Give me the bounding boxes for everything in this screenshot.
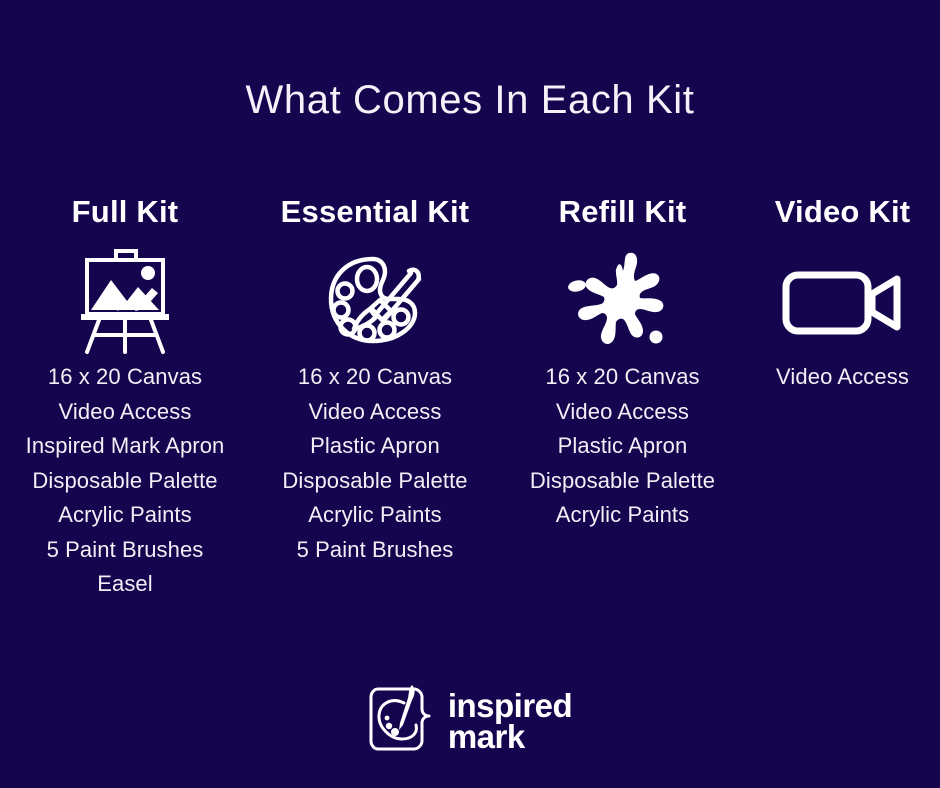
easel-painting-icon bbox=[75, 242, 175, 360]
paint-splat-icon bbox=[563, 242, 683, 360]
brand-wordmark: inspired mark bbox=[448, 691, 572, 752]
brand-line-1: inspired bbox=[448, 691, 572, 722]
kit-heading: Refill Kit bbox=[559, 190, 687, 232]
paint-palette-brush-icon bbox=[323, 242, 427, 360]
kit-heading: Essential Kit bbox=[281, 190, 470, 232]
list-item: Disposable Palette bbox=[26, 464, 225, 499]
kit-column-video: Video Kit Video Access bbox=[745, 190, 940, 395]
list-item: Easel bbox=[26, 567, 225, 602]
list-item: 16 x 20 Canvas bbox=[26, 360, 225, 395]
brand-logo: inspired mark bbox=[0, 683, 940, 760]
kit-item-list: 16 x 20 Canvas Video Access Inspired Mar… bbox=[26, 360, 225, 602]
kit-column-full: Full Kit bbox=[0, 190, 250, 602]
list-item: 5 Paint Brushes bbox=[282, 533, 467, 568]
video-camera-icon bbox=[780, 242, 906, 360]
list-item: 16 x 20 Canvas bbox=[530, 360, 715, 395]
brand-line-2: mark bbox=[448, 722, 572, 753]
list-item: 5 Paint Brushes bbox=[26, 533, 225, 568]
list-item: Video Access bbox=[776, 360, 909, 395]
list-item: Disposable Palette bbox=[282, 464, 467, 499]
poster: What Comes In Each Kit Full Kit bbox=[0, 0, 940, 788]
list-item: Acrylic Paints bbox=[26, 498, 225, 533]
kit-item-list: Video Access bbox=[776, 360, 909, 395]
list-item: Video Access bbox=[282, 395, 467, 430]
kit-item-list: 16 x 20 Canvas Video Access Plastic Apro… bbox=[530, 360, 715, 533]
kit-column-essential: Essential Kit bbox=[250, 190, 500, 567]
list-item: 16 x 20 Canvas bbox=[282, 360, 467, 395]
list-item: Acrylic Paints bbox=[282, 498, 467, 533]
page-title: What Comes In Each Kit bbox=[0, 78, 940, 123]
list-item: Inspired Mark Apron bbox=[26, 429, 225, 464]
list-item: Plastic Apron bbox=[282, 429, 467, 464]
list-item: Plastic Apron bbox=[530, 429, 715, 464]
list-item: Disposable Palette bbox=[530, 464, 715, 499]
kit-column-refill: Refill Kit 16 x 20 Canvas Video Access P… bbox=[500, 190, 745, 533]
kit-columns: Full Kit bbox=[0, 190, 940, 602]
kit-item-list: 16 x 20 Canvas Video Access Plastic Apro… bbox=[282, 360, 467, 567]
list-item: Video Access bbox=[26, 395, 225, 430]
list-item: Video Access bbox=[530, 395, 715, 430]
inspired-mark-palette-logo-icon bbox=[368, 683, 434, 760]
kit-heading: Full Kit bbox=[72, 190, 179, 232]
list-item: Acrylic Paints bbox=[530, 498, 715, 533]
kit-heading: Video Kit bbox=[775, 190, 911, 232]
